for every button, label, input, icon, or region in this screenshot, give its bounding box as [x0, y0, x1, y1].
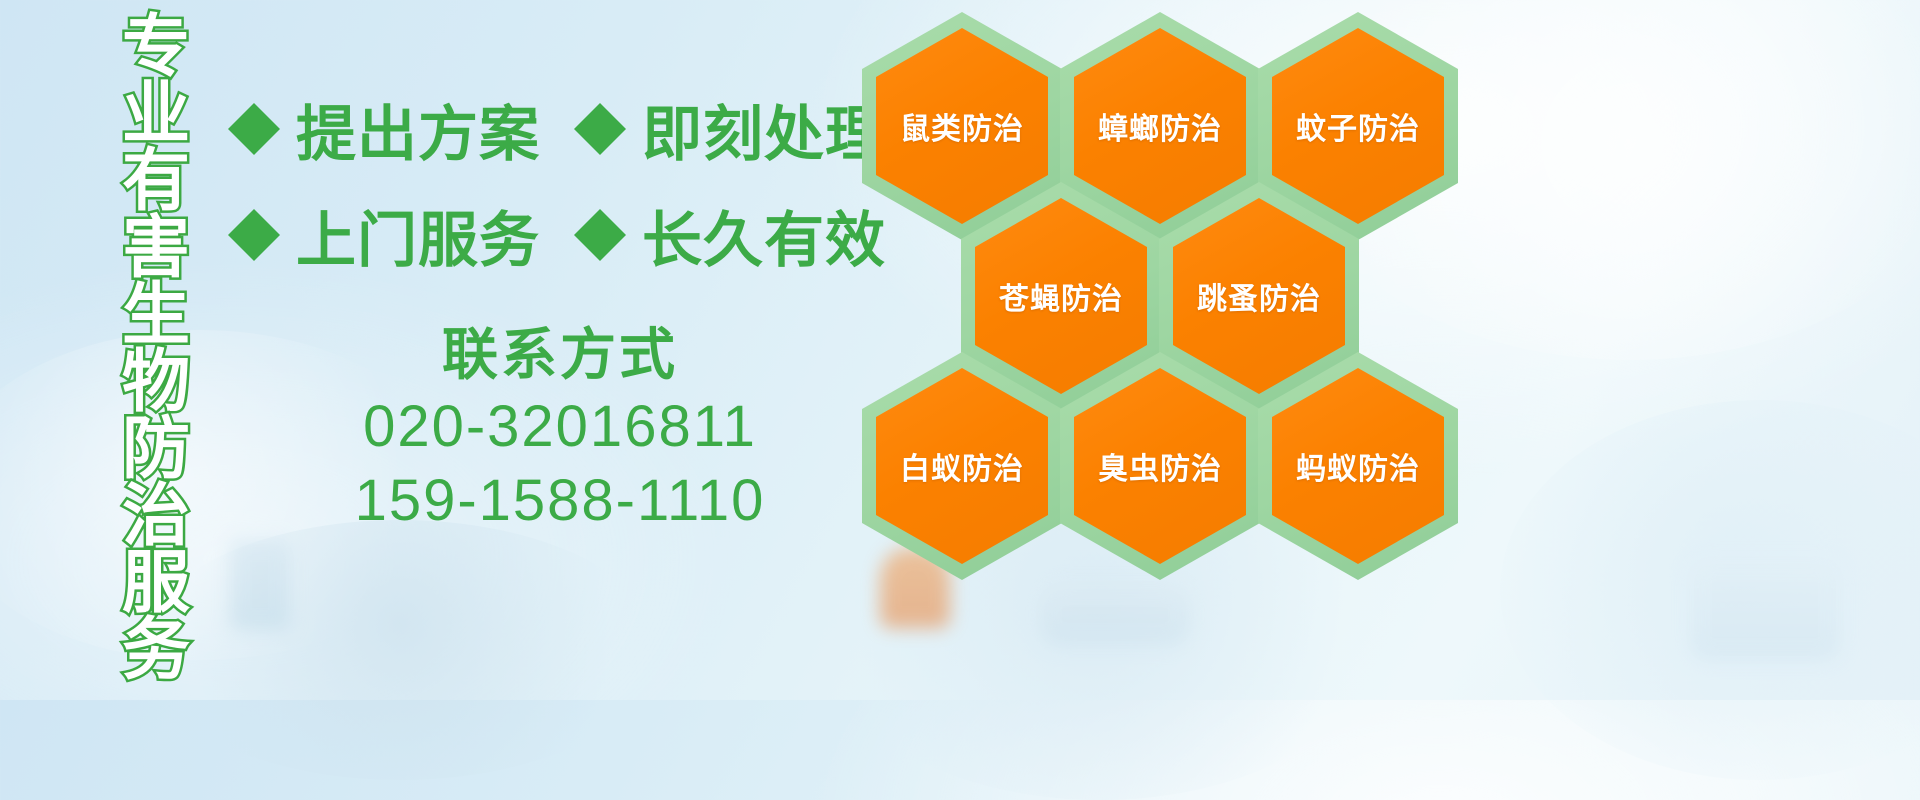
service-label: 鼠类防治: [900, 104, 1024, 148]
headline-char-6: 物: [122, 349, 190, 416]
hexagon-inner: 臭虫防治: [1074, 368, 1246, 564]
feature-item-onsite-service: 上门服务: [228, 192, 540, 279]
service-label: 蚊子防治: [1296, 104, 1420, 148]
feature-item-propose-plan: 提出方案: [228, 86, 540, 173]
background-object: [1040, 585, 1190, 645]
hexagon-shape: 臭虫防治: [1060, 352, 1260, 580]
service-label: 白蚁防治: [900, 444, 1024, 488]
service-hex-bedbug[interactable]: 臭虫防治: [1060, 352, 1260, 580]
diamond-bullet-icon: [574, 183, 626, 235]
service-honeycomb: 鼠类防治 蟑螂防治 蚊子防治 苍蝇防治 跳蚤防治: [862, 4, 1462, 564]
service-label: 跳蚤防治: [1197, 274, 1321, 318]
feature-label: 提出方案: [296, 86, 540, 173]
service-label: 苍蝇防治: [999, 274, 1123, 318]
hexagon-shape: 蚂蚁防治: [1258, 352, 1458, 580]
service-label: 蟑螂防治: [1098, 104, 1222, 148]
service-label: 蚂蚁防治: [1296, 444, 1420, 488]
vertical-headline: 专 业 有 害 生 物 防 治 服 务: [108, 14, 204, 574]
contact-phone-mobile[interactable]: 159-1588-1110: [250, 464, 870, 538]
headline-char-3: 有: [122, 148, 190, 215]
headline-char-4: 害: [122, 215, 190, 282]
diamond-bullet-icon: [228, 183, 280, 235]
background-object: [1690, 560, 1840, 660]
hexagon-inner: 白蚁防治: [876, 368, 1048, 564]
service-label: 臭虫防治: [1098, 444, 1222, 488]
diamond-bullet-icon: [228, 77, 280, 129]
contact-title: 联系方式: [250, 320, 870, 390]
headline-char-9: 服: [122, 550, 190, 617]
service-hex-ant[interactable]: 蚂蚁防治: [1258, 352, 1458, 580]
background-blob: [140, 520, 660, 780]
headline-char-10: 务: [122, 617, 190, 684]
feature-row: 提出方案 即刻处理: [228, 76, 868, 182]
service-hex-termite[interactable]: 白蚁防治: [862, 352, 1062, 580]
feature-row: 上门服务 长久有效: [228, 182, 868, 288]
diamond-bullet-icon: [574, 77, 626, 129]
headline-char-8: 治: [122, 483, 190, 550]
background-object: [230, 540, 290, 630]
contact-block: 联系方式 020-32016811 159-1588-1110: [250, 320, 870, 538]
contact-phone-landline[interactable]: 020-32016811: [250, 390, 870, 464]
headline-char-2: 业: [122, 81, 190, 148]
feature-item-immediate-handling: 即刻处理: [574, 86, 886, 173]
feature-list: 提出方案 即刻处理 上门服务 长久有效: [228, 76, 868, 288]
feature-item-long-lasting: 长久有效: [574, 192, 886, 279]
headline-char-1: 专: [122, 14, 190, 81]
background-blob: [1500, 400, 1920, 780]
headline-char-5: 生: [122, 282, 190, 349]
feature-label: 上门服务: [296, 192, 540, 279]
hexagon-inner: 蚂蚁防治: [1272, 368, 1444, 564]
feature-label: 长久有效: [642, 192, 886, 279]
headline-char-7: 防: [122, 416, 190, 483]
hexagon-shape: 白蚁防治: [862, 352, 1062, 580]
feature-label: 即刻处理: [642, 86, 886, 173]
